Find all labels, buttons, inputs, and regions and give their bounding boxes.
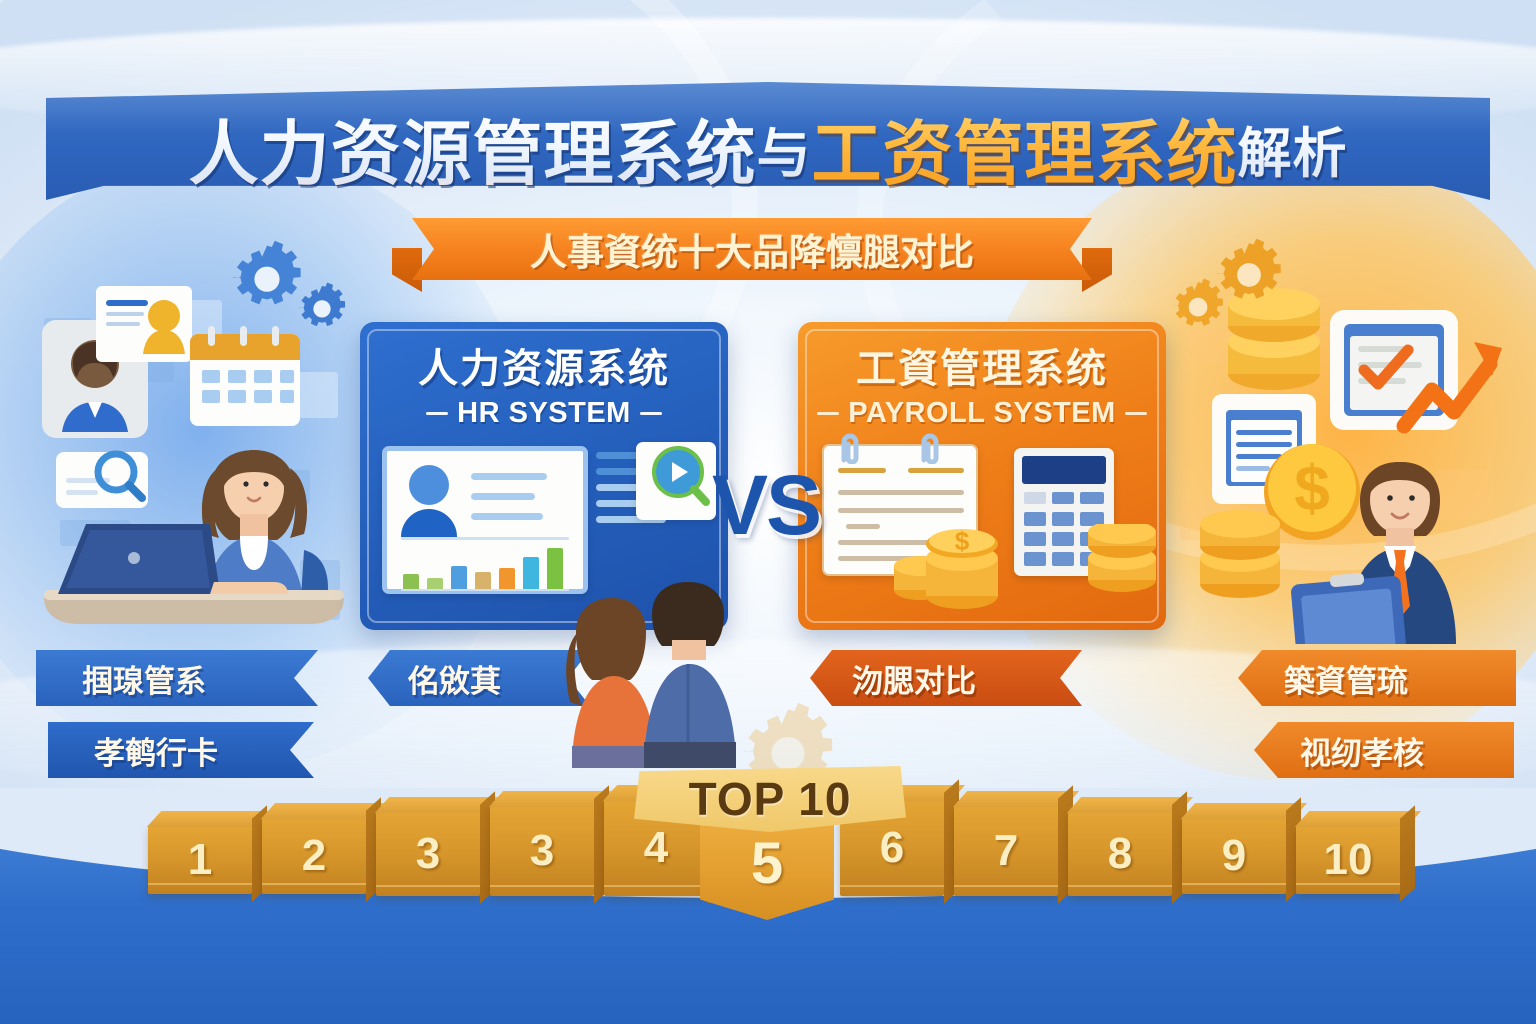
payroll-card-title-en: PAYROLL SYSTEM (848, 397, 1116, 430)
banner-performance-review[interactable]: 视纫孝核 (1254, 722, 1514, 778)
rule-right (640, 412, 662, 415)
banner-label: 视纫孝核 (1254, 728, 1424, 773)
title-part-2: 与 (757, 109, 812, 188)
podium-block-1[interactable]: 1 (148, 826, 252, 894)
coin-stack-icon (1200, 510, 1280, 598)
title-part-4: 解析 (1238, 109, 1348, 188)
banner-salary-management[interactable]: 築資管琉 (1238, 650, 1516, 706)
paperclip-icon (916, 432, 946, 464)
employee-record-icon (96, 286, 192, 362)
banner-label: 孝鹌行卡 (48, 728, 218, 773)
woman-back-illustration (566, 598, 656, 768)
banner-label: 沕腮对比 (810, 656, 976, 701)
rank-number: 3 (416, 829, 440, 879)
hr-card-header: 人力资源系统 HR SYSTEM (360, 336, 728, 430)
coin-icon: $ (890, 504, 1016, 614)
clipboard-icon (1290, 573, 1407, 644)
payroll-system-card[interactable]: 工資管理系统 PAYROLL SYSTEM (798, 322, 1166, 630)
podium-block-8[interactable]: 8 (1068, 812, 1172, 896)
gear-icon (232, 240, 302, 310)
title-part-1: 人力资源管理系统 (189, 98, 757, 199)
laptop-icon (44, 524, 344, 624)
rank-number: 7 (994, 826, 1018, 876)
gear-icon (1216, 238, 1282, 304)
payroll-card-title-cn: 工資管理系统 (798, 336, 1166, 394)
subtitle-text: 人事資统十大品降懔腿对比 (412, 218, 1092, 280)
rank-number: 4 (644, 823, 668, 873)
payroll-card-body: $ (816, 438, 1148, 612)
rank-number: 3 (530, 826, 554, 876)
banner-resource-management[interactable]: 掴瑔管系 (36, 650, 318, 706)
coin-stack-icon (1078, 524, 1166, 594)
svg-text:$: $ (1294, 452, 1330, 524)
rank-number: 8 (1108, 829, 1132, 879)
rank-number: 2 (302, 831, 326, 881)
center-viewers-illustration (556, 536, 756, 768)
rule-right (1125, 412, 1147, 415)
page-title: 人力资源管理系统与工资管理系统解析 (0, 96, 1536, 200)
rank-number: 1 (188, 835, 212, 885)
podium-block-10[interactable]: 10 (1296, 826, 1400, 894)
hr-card-title-en-wrap: HR SYSTEM (360, 397, 728, 430)
podium-block-2[interactable]: 2 (262, 818, 366, 894)
versus-label: VS (686, 455, 846, 555)
banner-label: 掴瑔管系 (36, 656, 206, 701)
rule-left (817, 412, 839, 415)
banner-attendance[interactable]: 孝鹌行卡 (48, 722, 314, 778)
payroll-card-header: 工資管理系统 PAYROLL SYSTEM (798, 336, 1166, 430)
hr-card-title-en: HR SYSTEM (457, 397, 631, 430)
podium-block-7[interactable]: 7 (954, 806, 1058, 896)
podium-block-3[interactable]: 3 (376, 812, 480, 896)
svg-text:$: $ (955, 526, 970, 556)
poster-canvas: $ (0, 0, 1536, 1024)
checkmark-document-icon (1330, 310, 1458, 430)
search-icon (56, 452, 148, 508)
banner-feature-comparison[interactable]: 沕腮对比 (810, 650, 1082, 706)
payroll-card-title-en-wrap: PAYROLL SYSTEM (798, 397, 1166, 430)
man-back-illustration (644, 582, 736, 768)
banner-label: 築資管琉 (1238, 656, 1408, 701)
podium-block-9[interactable]: 9 (1182, 818, 1286, 894)
payroll-scene-illustration: $ (1178, 284, 1536, 644)
rule-left (426, 412, 448, 415)
calendar-icon (190, 326, 300, 426)
rank-number: 6 (880, 823, 904, 873)
title-part-3: 工资管理系统 (812, 98, 1238, 199)
podium-block-3b[interactable]: 3 (490, 806, 594, 896)
hr-card-title-cn: 人力资源系统 (360, 336, 728, 394)
banner-label: 佲敓萁 (368, 656, 501, 701)
hr-scene-illustration (18, 282, 374, 642)
rank-number: 9 (1222, 831, 1246, 881)
rank-number: 5 (751, 830, 783, 897)
gear-icon (298, 282, 346, 330)
rank-number: 10 (1324, 835, 1373, 885)
subtitle-ribbon: 人事資统十大品降懔腿对比 (412, 218, 1092, 280)
